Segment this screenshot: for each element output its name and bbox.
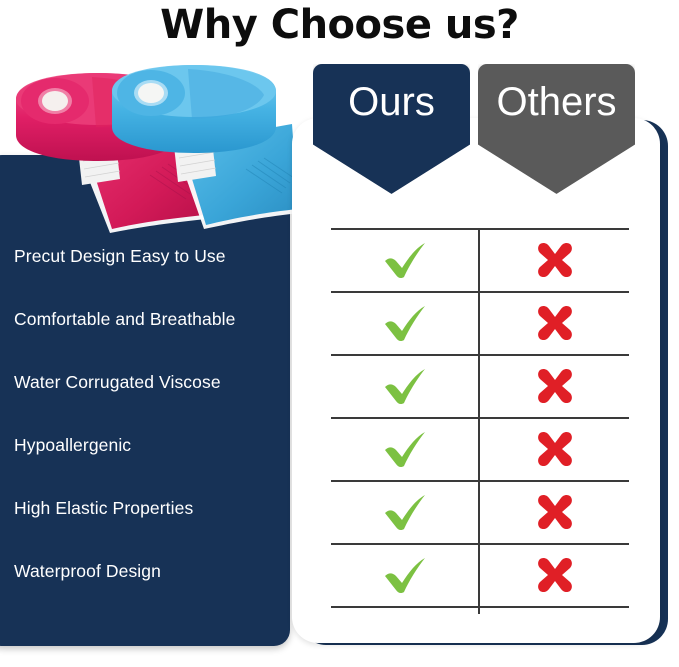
feature-item-2: Comfortable and Breathable xyxy=(14,309,294,330)
cell-ours-row-5 xyxy=(331,480,478,543)
cell-others-row-3 xyxy=(481,354,628,417)
feature-item-4: Hypoallergenic xyxy=(14,435,294,456)
cross-icon-svg xyxy=(534,366,576,406)
cross-icon-svg xyxy=(534,303,576,343)
cross-icon xyxy=(534,429,576,469)
cross-icon-svg xyxy=(534,555,576,595)
cross-icon xyxy=(534,366,576,406)
check-icon-svg xyxy=(382,240,428,280)
cell-others-row-5 xyxy=(481,480,628,543)
cell-others-row-1 xyxy=(481,228,628,291)
check-icon xyxy=(382,429,428,469)
check-icon-svg xyxy=(382,555,428,595)
cell-others-row-4 xyxy=(481,417,628,480)
check-icon xyxy=(382,492,428,532)
cell-ours-row-4 xyxy=(331,417,478,480)
cell-ours-row-2 xyxy=(331,291,478,354)
cell-others-row-2 xyxy=(481,291,628,354)
cell-ours-row-1 xyxy=(331,228,478,291)
page-title: Why Choose us? xyxy=(0,2,679,48)
check-icon-svg xyxy=(382,366,428,406)
check-icon xyxy=(382,555,428,595)
check-icon-svg xyxy=(382,492,428,532)
check-icon xyxy=(382,303,428,343)
cross-icon xyxy=(534,492,576,532)
check-icon-svg xyxy=(382,429,428,469)
column-header-ours-label: Ours xyxy=(313,80,470,125)
cell-ours-row-6 xyxy=(331,543,478,606)
cross-icon xyxy=(534,555,576,595)
cross-icon xyxy=(534,303,576,343)
cross-icon xyxy=(534,240,576,280)
cell-ours-row-3 xyxy=(331,354,478,417)
cell-others-row-6 xyxy=(481,543,628,606)
feature-item-1: Precut Design Easy to Use xyxy=(14,246,294,267)
cross-icon-svg xyxy=(534,429,576,469)
comparison-infographic: Why Choose us? xyxy=(0,0,679,667)
check-icon xyxy=(382,366,428,406)
feature-list: Precut Design Easy to UseComfortable and… xyxy=(0,155,300,646)
feature-item-3: Water Corrugated Viscose xyxy=(14,372,294,393)
check-icon-svg xyxy=(382,303,428,343)
grid-vertical-divider xyxy=(478,228,480,614)
feature-item-5: High Elastic Properties xyxy=(14,498,294,519)
comparison-grid xyxy=(331,228,629,614)
cross-icon-svg xyxy=(534,492,576,532)
check-icon xyxy=(382,240,428,280)
grid-horizontal-line xyxy=(331,606,629,608)
feature-item-6: Waterproof Design xyxy=(14,561,294,582)
column-header-others-label: Others xyxy=(478,80,635,125)
cross-icon-svg xyxy=(534,240,576,280)
